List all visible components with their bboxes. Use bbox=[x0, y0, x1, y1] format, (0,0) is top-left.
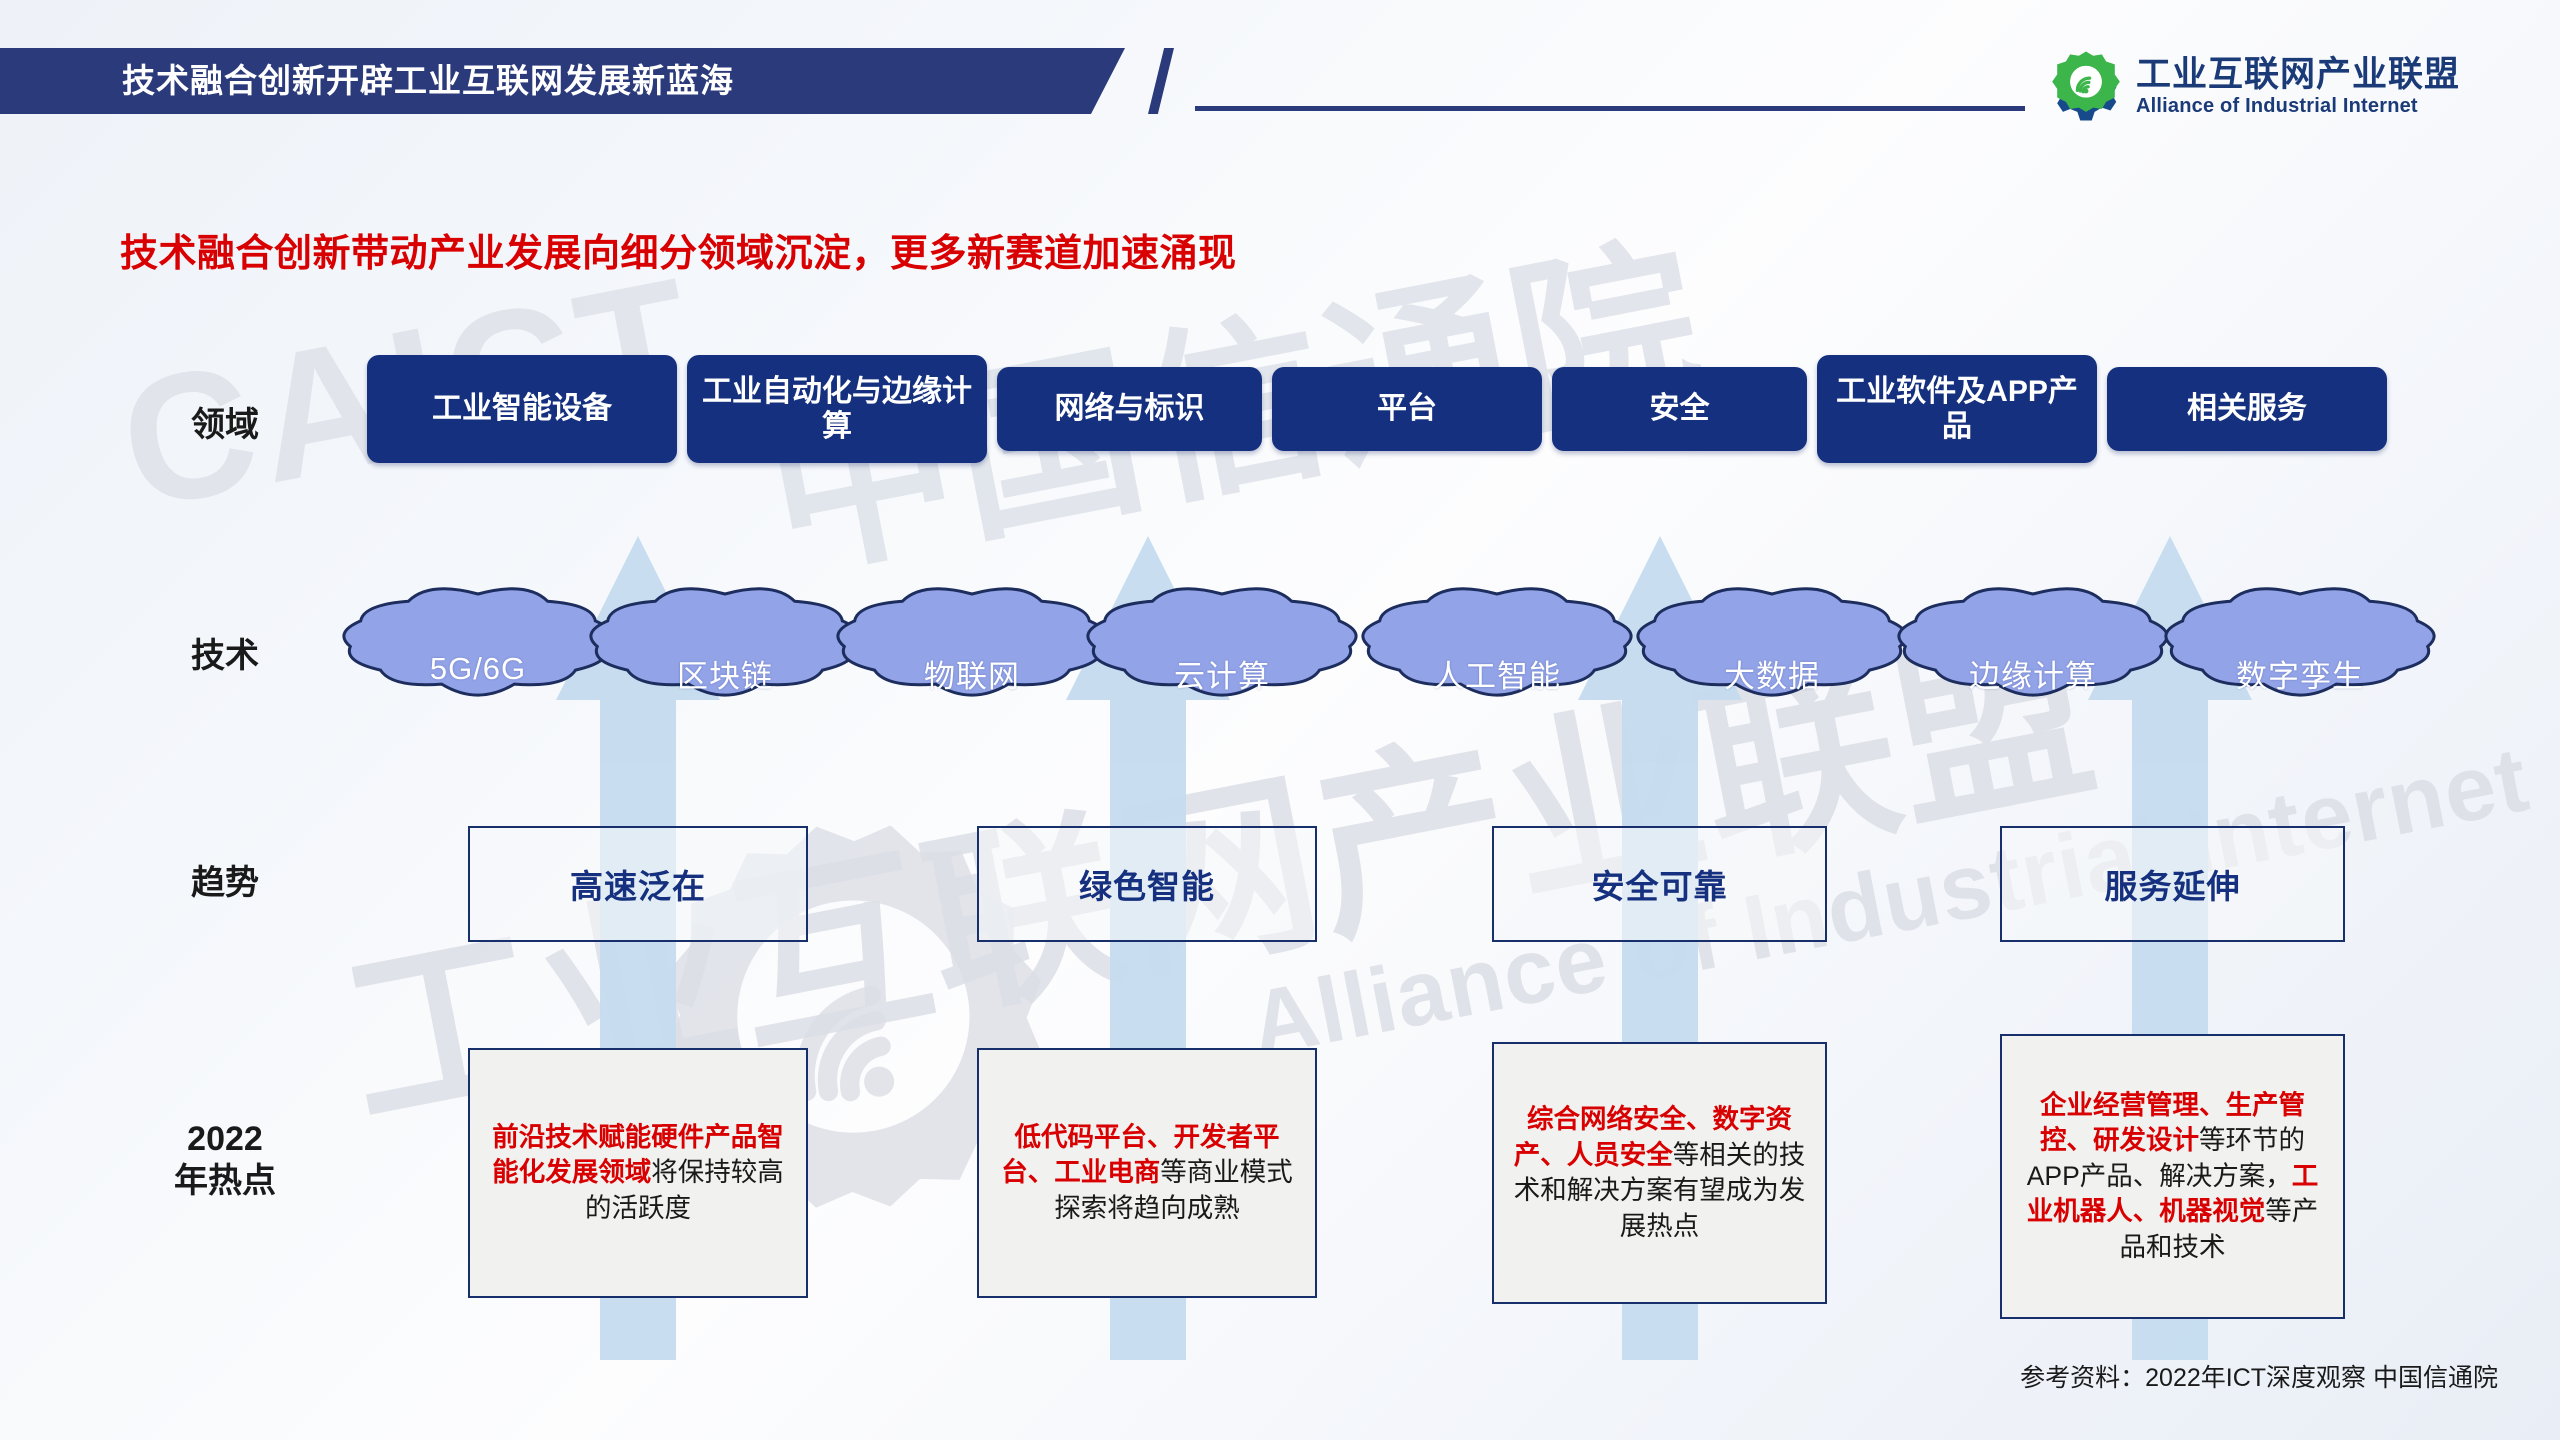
domain-box[interactable]: 相关服务 bbox=[2107, 367, 2387, 451]
domain-box-label: 平台 bbox=[1377, 391, 1437, 426]
domain-box-label: 网络与标识 bbox=[1055, 391, 1205, 426]
hotspot-box[interactable]: 企业经营管理、生产管控、研发设计等环节的APP产品、解决方案，工业机器人、机器视… bbox=[2000, 1034, 2345, 1319]
trend-box[interactable]: 高速泛在 bbox=[468, 826, 808, 942]
domain-box-label: 工业自动化与边缘计算 bbox=[693, 374, 981, 445]
hotspot-text: 企业经营管理、生产管控、研发设计等环节的APP产品、解决方案，工业机器人、机器视… bbox=[2016, 1088, 2329, 1266]
technology-cloud-label: 大数据 bbox=[1724, 651, 1820, 696]
technology-cloud-label: 5G/6G bbox=[430, 651, 526, 687]
domain-box[interactable]: 安全 bbox=[1552, 367, 1807, 451]
trend-box-label: 高速泛在 bbox=[570, 860, 706, 908]
technology-cloud-label: 物联网 bbox=[924, 651, 1020, 696]
domain-box[interactable]: 工业智能设备 bbox=[367, 355, 677, 463]
page-title: 技术融合创新开辟工业互联网发展新蓝海 bbox=[122, 48, 734, 114]
row-label-hotspot: 2022 年热点 bbox=[130, 1118, 320, 1202]
trend-box-label: 服务延伸 bbox=[2105, 860, 2241, 908]
source-note: 参考资料：2022年ICT深度观察 中国信通院 bbox=[2020, 1358, 2498, 1394]
section-subtitle: 技术融合创新带动产业发展向细分领域沉淀，更多新赛道加速涌现 bbox=[120, 222, 1237, 277]
row-label-hotspot-year: 2022 bbox=[130, 1118, 320, 1160]
technology-cloud-label: 云计算 bbox=[1174, 651, 1270, 696]
domain-box-label: 工业软件及APP产品 bbox=[1823, 374, 2091, 445]
row-label-trend: 趋势 bbox=[130, 862, 320, 904]
hotspot-text: 前沿技术赋能硬件产品智能化发展领域将保持较高的活跃度 bbox=[484, 1120, 792, 1227]
domain-box-label: 安全 bbox=[1650, 391, 1710, 426]
row-label-domain: 领域 bbox=[130, 404, 320, 446]
domain-box-label: 工业智能设备 bbox=[432, 391, 612, 426]
domain-box[interactable]: 工业软件及APP产品 bbox=[1817, 355, 2097, 463]
row-label-hotspot-text: 年热点 bbox=[130, 1160, 320, 1202]
slide-root: CAICT 中国信通院 工业互联网产业联盟 Alliance of Indust… bbox=[0, 0, 2560, 1440]
technology-cloud-label: 边缘计算 bbox=[1969, 651, 2097, 696]
domain-box[interactable]: 网络与标识 bbox=[997, 367, 1262, 451]
domain-box-label: 相关服务 bbox=[2187, 391, 2307, 426]
header-slash-accent bbox=[1148, 48, 1174, 114]
hotspot-text: 低代码平台、开发者平台、工业电商等商业模式探索将趋向成熟 bbox=[993, 1120, 1301, 1227]
header: 技术融合创新开辟工业互联网发展新蓝海 bbox=[0, 48, 1200, 114]
header-rule bbox=[1195, 106, 2025, 111]
hotspot-text: 综合网络安全、数字资产、人员安全等相关的技术和解决方案有望成为发展热点 bbox=[1508, 1102, 1811, 1244]
logo-title-en: Alliance of Industrial Internet bbox=[2136, 96, 2460, 116]
alliance-logo: 工业互联网产业联盟 Alliance of Industrial Interne… bbox=[2050, 50, 2530, 122]
hotspot-box[interactable]: 低代码平台、开发者平台、工业电商等商业模式探索将趋向成熟 bbox=[977, 1048, 1317, 1298]
technology-cloud-label: 区块链 bbox=[677, 651, 773, 696]
technology-cloud-label: 人工智能 bbox=[1433, 651, 1561, 696]
domain-box[interactable]: 平台 bbox=[1272, 367, 1542, 451]
hotspot-box[interactable]: 前沿技术赋能硬件产品智能化发展领域将保持较高的活跃度 bbox=[468, 1048, 808, 1298]
trend-box[interactable]: 服务延伸 bbox=[2000, 826, 2345, 942]
gear-wifi-logo-icon bbox=[2050, 50, 2122, 122]
logo-title-cn: 工业互联网产业联盟 bbox=[2136, 57, 2460, 92]
technology-cloud-band bbox=[0, 570, 2560, 710]
hotspot-box[interactable]: 综合网络安全、数字资产、人员安全等相关的技术和解决方案有望成为发展热点 bbox=[1492, 1042, 1827, 1304]
domain-box[interactable]: 工业自动化与边缘计算 bbox=[687, 355, 987, 463]
trend-box[interactable]: 绿色智能 bbox=[977, 826, 1317, 942]
trend-box[interactable]: 安全可靠 bbox=[1492, 826, 1827, 942]
technology-cloud-label: 数字孪生 bbox=[2236, 651, 2364, 696]
trend-box-label: 绿色智能 bbox=[1079, 860, 1215, 908]
trend-box-label: 安全可靠 bbox=[1592, 860, 1728, 908]
